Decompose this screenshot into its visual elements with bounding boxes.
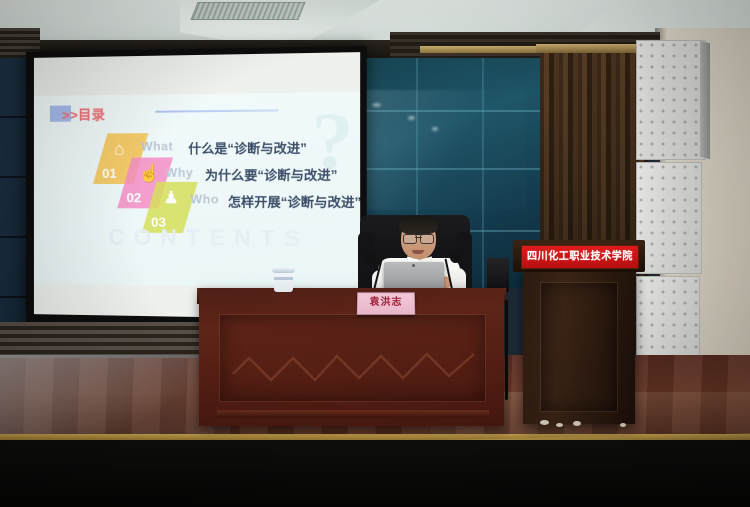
projection-screen: ? >>目录 ⌂ 01 ☝ 02 ♟ 03 What bbox=[26, 46, 367, 329]
desk-base-trim bbox=[217, 410, 489, 418]
slide-row-3-cn: 怎样开展“诊断与改进” bbox=[228, 191, 360, 211]
slide-row-2-en: Why bbox=[166, 166, 194, 180]
microphone-head-right bbox=[450, 252, 461, 263]
podium-cable bbox=[505, 300, 508, 400]
podium bbox=[523, 268, 635, 424]
air-vent-icon bbox=[190, 2, 305, 20]
podium-front-panel bbox=[540, 282, 618, 412]
acoustic-panel-upper-edge bbox=[700, 41, 710, 159]
laptop-camera-icon bbox=[412, 264, 415, 267]
slide-tile-01-number: 01 bbox=[102, 166, 117, 181]
speaker-desk bbox=[199, 288, 504, 426]
speaker-hair bbox=[399, 216, 438, 235]
slide-margin-top bbox=[34, 52, 360, 96]
projection-screen-surface: ? >>目录 ⌂ 01 ☝ 02 ♟ 03 What bbox=[34, 52, 360, 320]
floor-debris-3 bbox=[573, 421, 581, 426]
floor-debris-1 bbox=[540, 420, 549, 425]
eyeglasses-bridge bbox=[415, 237, 422, 238]
nameplate-text: 袁洪志 bbox=[358, 293, 414, 313]
water-cup bbox=[274, 272, 293, 292]
side-monitor bbox=[487, 258, 509, 292]
podium-plaque: 四川化工职业技术学院 bbox=[521, 245, 639, 269]
slide-row-1-cn: 什么是“诊断与改进” bbox=[188, 137, 307, 157]
slide-title-rule bbox=[155, 109, 278, 113]
slide-row-3-en: Who bbox=[190, 192, 219, 206]
podium-plaque-text: 四川化工职业技术学院 bbox=[522, 245, 638, 267]
slide-title: >>目录 bbox=[62, 104, 106, 124]
stage-front-face bbox=[0, 440, 750, 507]
lecture-hall-photo: ? >>目录 ⌂ 01 ☝ 02 ♟ 03 What bbox=[0, 0, 750, 507]
contents-watermark: CONTENTS bbox=[108, 224, 309, 252]
person-icon: ♟ bbox=[163, 189, 179, 206]
water-cup-lid bbox=[272, 267, 295, 273]
curtain-rail bbox=[536, 44, 652, 53]
home-icon: ⌂ bbox=[114, 140, 124, 157]
floor-reflection-left bbox=[0, 355, 230, 435]
water-cup-band bbox=[274, 277, 293, 280]
slide-row-2-cn: 为什么要“诊断与改进” bbox=[205, 164, 338, 184]
floor-debris-2 bbox=[556, 423, 563, 427]
presentation-slide: ? >>目录 ⌂ 01 ☝ 02 ♟ 03 What bbox=[34, 92, 360, 291]
floor-debris-4 bbox=[620, 423, 626, 427]
microphone-head-left bbox=[365, 252, 376, 263]
hand-pointer-icon: ☝ bbox=[139, 165, 161, 182]
acoustic-panel-middle bbox=[636, 162, 702, 274]
slide-row-1-en: What bbox=[141, 139, 173, 153]
acoustic-panel-upper bbox=[636, 40, 706, 160]
desk-chevron-carving bbox=[231, 338, 476, 384]
slide-tile-02-number: 02 bbox=[126, 190, 141, 205]
nameplate: 袁洪志 bbox=[357, 292, 415, 314]
